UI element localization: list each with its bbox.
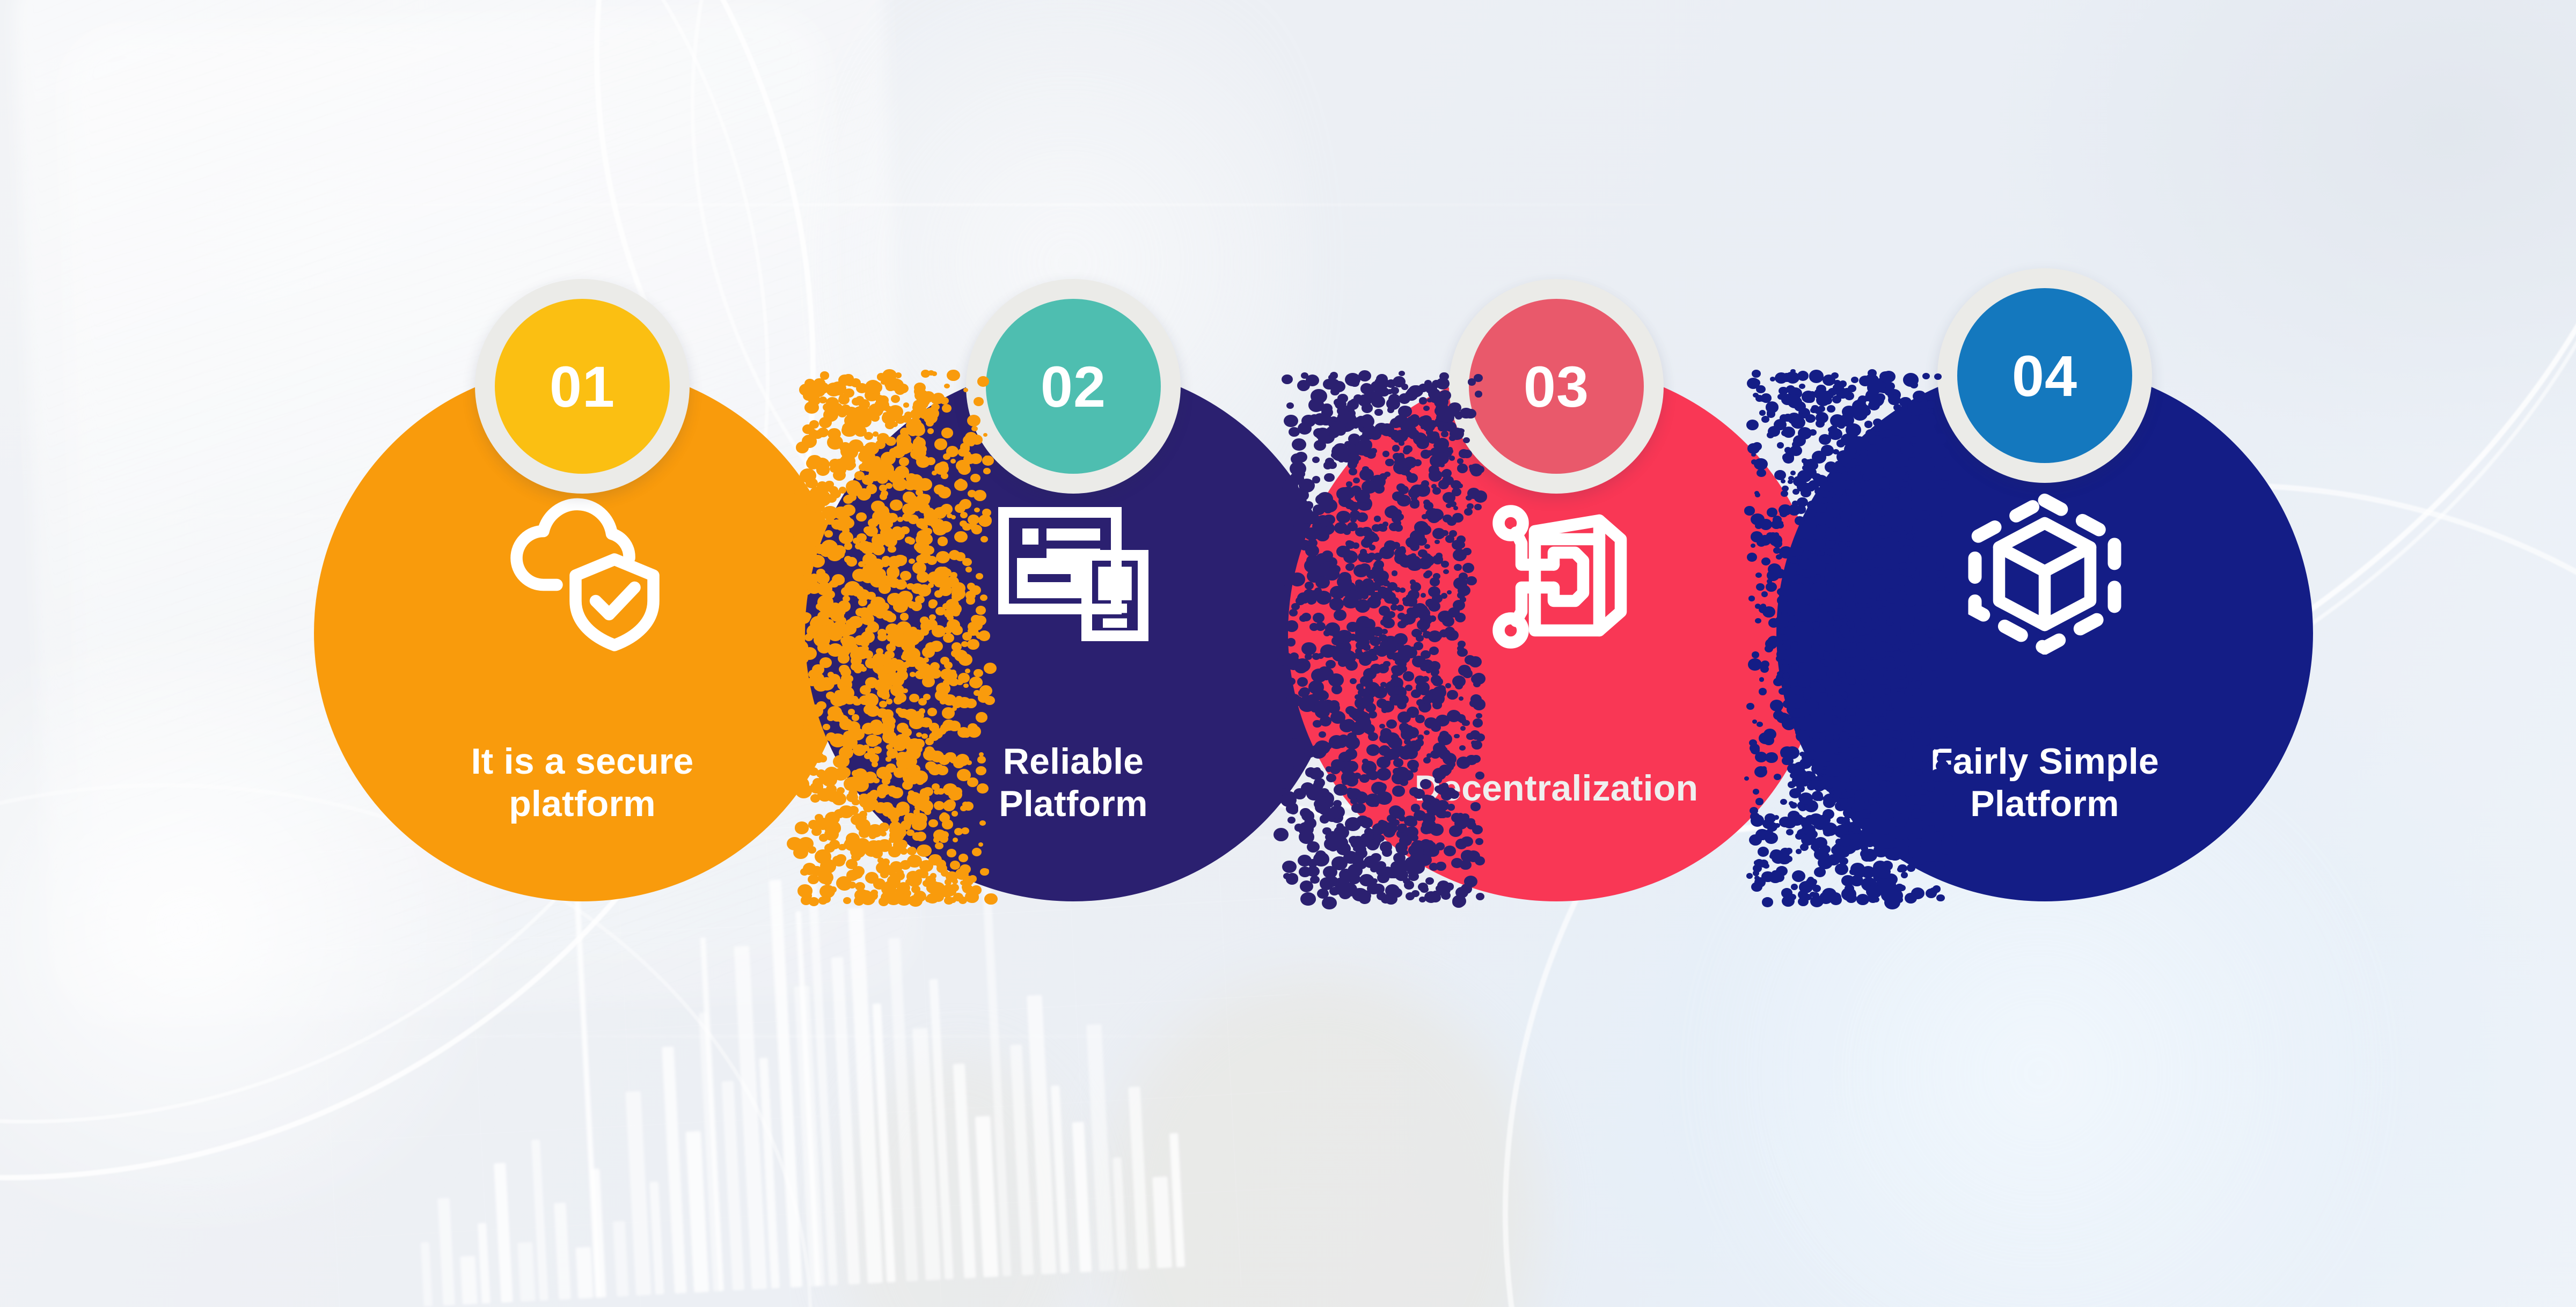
step-label-1: It is a secure platform <box>362 740 802 825</box>
document-layout-icon <box>993 494 1154 655</box>
step-badge-4[interactable]: 04 <box>1957 288 2132 463</box>
blockchain-cube-circuit-icon <box>1476 494 1637 655</box>
cloud-shield-check-icon <box>502 494 663 655</box>
steps-row: It is a secure platform 01 <box>0 0 2576 1307</box>
step-number-2: 02 <box>1041 353 1106 420</box>
hexagon-cube-icon <box>1964 494 2125 655</box>
step-label-3: Decentralization <box>1336 767 1776 810</box>
step-badge-2[interactable]: 02 <box>986 299 1161 474</box>
step-badge-3[interactable]: 03 <box>1469 299 1644 474</box>
step-number-3: 03 <box>1524 353 1589 420</box>
step-label-2: Reliable Platform <box>853 740 1293 825</box>
step-badge-1[interactable]: 01 <box>495 299 670 474</box>
step-number-1: 01 <box>550 353 615 420</box>
step-label-4: Fairly Simple Platform <box>1825 740 2265 825</box>
step-number-4: 04 <box>2012 342 2077 409</box>
